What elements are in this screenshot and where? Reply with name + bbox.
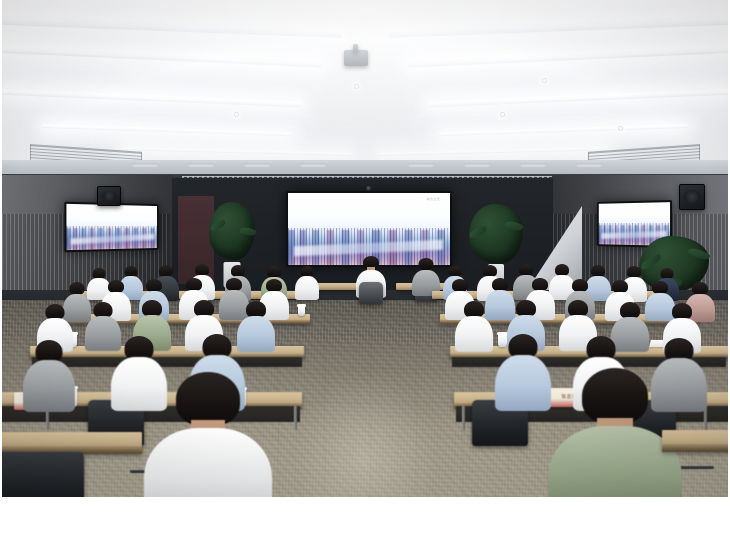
screen-watermark: 城市全景 [427,197,441,201]
conference-table [2,432,142,454]
ceiling [2,0,728,185]
attendee [22,340,76,420]
ceiling-slot-diffuser [576,163,602,167]
ceiling-downlight [354,84,359,89]
ceiling-projector [344,50,368,66]
attendee-torso [23,360,75,412]
conference-chair [2,452,84,497]
ceiling-slot-diffuser [188,163,214,167]
main-screen-image: 城市全景 [288,193,450,265]
paper-cup [298,306,305,316]
attendee-torso [455,316,493,352]
foreground-attendee [142,372,274,497]
attendee-hair [419,258,434,270]
attendee [454,301,494,358]
left-wall-speaker [97,186,121,206]
table-leg [294,406,297,430]
ceiling-slot-diffuser [464,163,490,167]
ceiling-slot-diffuser [300,163,326,167]
conference-table [662,430,728,452]
letterbox-bottom [0,497,730,548]
centre-aisle [292,300,437,497]
left-screen-image [66,204,157,250]
left-side-monitor[interactable] [64,202,158,253]
table-leg [462,406,465,430]
ceiling-downlight [234,112,239,117]
right-wall-speaker [679,184,705,210]
front-presenter-chair [359,282,383,304]
ceiling-slot-diffuser [408,163,434,167]
attendee [294,266,320,306]
ceiling-projector-mount [353,44,358,52]
conference-camera-icon [365,186,372,191]
attendee-torso [295,276,319,300]
cup-lid [297,304,306,307]
ceiling-slot-diffuser [244,163,270,167]
ceiling-downlight [618,126,623,131]
table-edge [662,444,728,452]
attendee-hair [176,372,240,426]
attendee [494,334,552,420]
attendee-hair [582,368,648,424]
ceiling-downlight [542,78,547,83]
ceiling-downlight [500,112,505,117]
conference-room-photograph: 城市全景 [2,0,728,497]
screenshot-root: 城市全景 [0,0,730,548]
attendee-torso [144,428,272,497]
attendee-torso [495,355,551,411]
ceiling-slot-diffuser [132,163,158,167]
ceiling-slot-diffuser [520,163,546,167]
